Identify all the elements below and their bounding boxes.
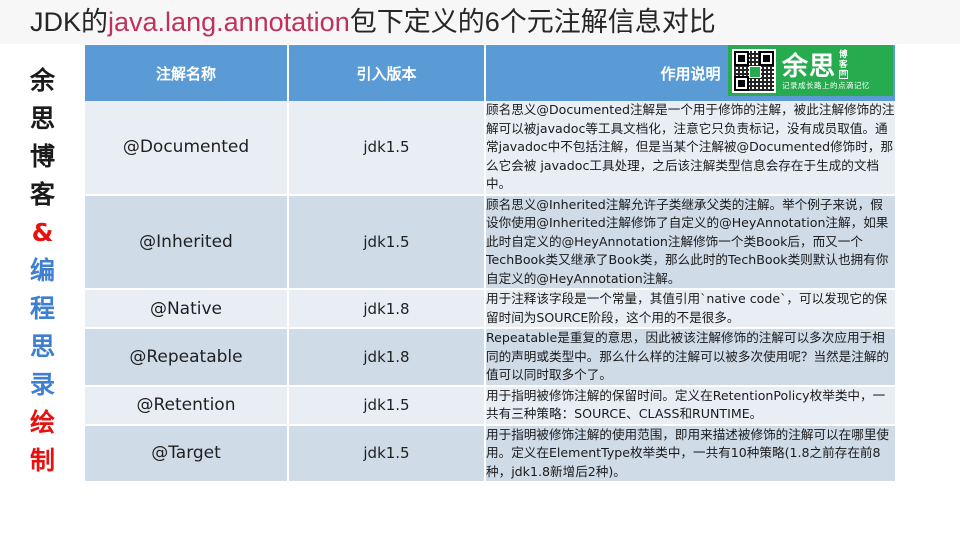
cell-annotation-name: @Repeatable (85, 328, 288, 386)
column-header-name: 注解名称 (85, 45, 288, 101)
cell-version: jdk1.8 (288, 289, 485, 328)
slide-canvas: JDK的java.lang.annotation包下定义的6个元注解信息对比 余… (0, 0, 960, 540)
table-row: @Repeatablejdk1.8Repeatable是重复的意思，因此被该注解… (85, 328, 895, 386)
cell-version: jdk1.5 (288, 425, 485, 483)
sidebar-char-0: 余 (30, 62, 55, 100)
cell-version: jdk1.8 (288, 328, 485, 386)
logo-subtitle: 博 客 回 (839, 50, 848, 81)
cell-annotation-name: @Documented (85, 101, 288, 195)
cell-annotation-name: @Inherited (85, 195, 288, 290)
table-row: @Documentedjdk1.5顾名思义@Documented注解是一个用于修… (85, 101, 895, 195)
title-suffix: 包下定义的6个元注解信息对比 (350, 7, 716, 37)
logo-tagline: 记录成长路上的点滴记忆 (782, 81, 889, 91)
table-row: @Targetjdk1.5用于指明被修饰注解的使用范围，即用来描述被修饰的注解可… (85, 425, 895, 483)
sidebar-char-9: 绘 (30, 404, 55, 442)
cell-version: jdk1.5 (288, 195, 485, 290)
cell-annotation-name: @Target (85, 425, 288, 483)
qr-code-icon (732, 49, 776, 93)
logo-name: 余思 (782, 54, 836, 81)
logo-text-block: 余思 博 客 回 记录成长路上的点滴记忆 (776, 50, 889, 91)
title-accent: java.lang.annotation (108, 7, 350, 37)
table-row: @Inheritedjdk1.5顾名思义@Inherited注解允许子类继承父类… (85, 195, 895, 290)
cell-description: 顾名思义@Inherited注解允许子类继承父类的注解。举个例子来说，假设你使用… (485, 195, 895, 290)
sidebar-char-2: 博 (30, 138, 55, 176)
sidebar-char-4: & (32, 214, 54, 252)
sidebar-char-6: 程 (30, 290, 55, 328)
annotation-comparison-table: 注解名称 引入版本 作用说明 @Documentedjdk1.5顾名思义@Doc… (85, 45, 895, 483)
table-body: @Documentedjdk1.5顾名思义@Documented注解是一个用于修… (85, 101, 895, 482)
sidebar-char-10: 制 (30, 442, 55, 480)
cell-version: jdk1.5 (288, 386, 485, 425)
table-row: @Nativejdk1.8用于注释该字段是一个常量，其值引用`native co… (85, 289, 895, 328)
slide-title-bar: JDK的java.lang.annotation包下定义的6个元注解信息对比 (0, 0, 960, 44)
column-header-version: 引入版本 (288, 45, 485, 101)
cell-description: 用于指明被修饰注解的保留时间。定义在RetentionPolicy枚举类中，一共… (485, 386, 895, 425)
sidebar-char-8: 录 (30, 366, 55, 404)
sidebar-char-5: 编 (30, 252, 55, 290)
cell-description: Repeatable是重复的意思，因此被该注解修饰的注解可以多次应用于相同的声明… (485, 328, 895, 386)
cell-version: jdk1.5 (288, 101, 485, 195)
cell-description: 用于注释该字段是一个常量，其值引用`native code`，可以发现它的保留时… (485, 289, 895, 328)
cell-annotation-name: @Native (85, 289, 288, 328)
vertical-branding-sidebar: 余思博客&编程思录绘制 (0, 44, 85, 540)
sidebar-char-3: 客 (30, 176, 55, 214)
sidebar-char-7: 思 (30, 328, 55, 366)
cell-annotation-name: @Retention (85, 386, 288, 425)
sidebar-char-1: 思 (30, 100, 55, 138)
page-title: JDK的java.lang.annotation包下定义的6个元注解信息对比 (0, 6, 716, 38)
table-row: @Retentionjdk1.5用于指明被修饰注解的保留时间。定义在Retent… (85, 386, 895, 425)
logo-sub-mid: 客 (839, 60, 848, 70)
title-prefix: JDK的 (30, 7, 108, 37)
logo-sub-box: 回 (839, 70, 848, 79)
cell-description: 顾名思义@Documented注解是一个用于修饰的注解，被此注解修饰的注解可以被… (485, 101, 895, 195)
cell-description: 用于指明被修饰注解的使用范围，即用来描述被修饰的注解可以在哪里使用。定义在Ele… (485, 425, 895, 483)
blog-logo-watermark: 余思 博 客 回 记录成长路上的点滴记忆 (728, 45, 893, 96)
